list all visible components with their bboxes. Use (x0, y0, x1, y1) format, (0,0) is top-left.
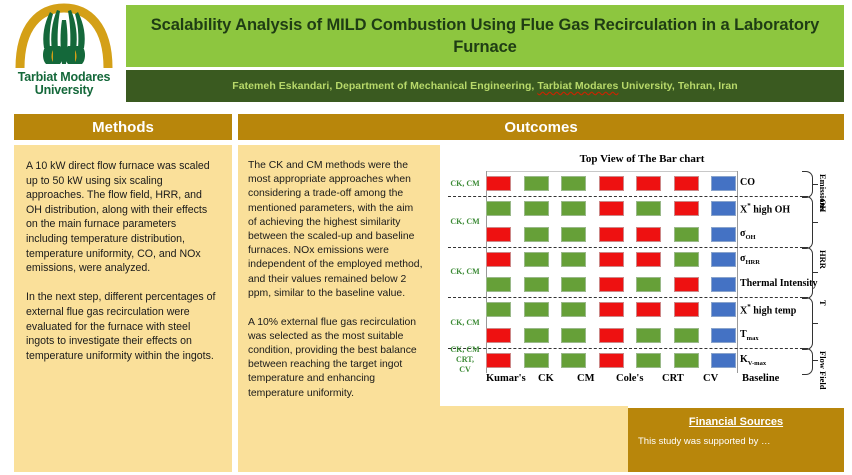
chart-row-label: σHRR (740, 253, 760, 266)
chart-group-label: T (818, 300, 828, 345)
chart-group-separator (448, 348, 808, 349)
chart-plot-area: COX* high OHσOHσHRRThermal IntensityX* h… (440, 145, 844, 406)
chart-group-brace (802, 247, 813, 300)
chart-row (486, 171, 736, 196)
chart-group-brace (802, 171, 813, 198)
financial-sources-title: Financial Sources (638, 416, 834, 428)
chart-group-label: HRR (818, 250, 828, 295)
methods-body: A 10 kW direct flow furnace was scaled u… (26, 159, 220, 363)
chart-left-group-tag: CK, CM (444, 179, 486, 189)
poster-header: Tarbiat Modares University Scalability A… (0, 0, 852, 110)
chart-row (486, 348, 736, 373)
financial-sources-box: Financial Sources This study was support… (628, 408, 844, 472)
chart-cell-blue (711, 302, 736, 317)
chart-cell-red (599, 353, 624, 368)
chart-cell-green (674, 227, 699, 242)
chart-x-label: CV (703, 373, 718, 384)
chart-row (486, 222, 736, 247)
university-logo: Tarbiat Modares University (8, 2, 120, 108)
chart-cell-green (561, 201, 586, 216)
chart-cell-red (636, 176, 661, 191)
financial-sources-body: This study was supported by … (638, 436, 834, 447)
chart-cell-red (599, 227, 624, 242)
chart-cell-green (561, 277, 586, 292)
outcomes-section-header: Outcomes (238, 114, 844, 140)
chart-cell-green (561, 176, 586, 191)
poster-authors: Fatemeh Eskandari, Department of Mechani… (232, 80, 738, 92)
authors-prefix: Fatemeh Eskandari, Department of Mechani… (232, 80, 537, 92)
chart-x-label: Cole's (616, 373, 643, 384)
chart-left-group-tag: CK, CM (444, 217, 486, 227)
chart-x-label: CK (538, 373, 554, 384)
chart-cell-green (636, 353, 661, 368)
chart-group-brace (802, 196, 813, 249)
chart-cell-green (524, 302, 549, 317)
chart-x-label: Kumar's (486, 373, 526, 384)
chart-cell-green (524, 176, 549, 191)
chart-left-group-tag: CK, CM (444, 318, 486, 328)
outcomes-paragraph-1: The CK and CM methods were the most appr… (248, 159, 424, 301)
chart-cell-red (599, 277, 624, 292)
chart-cell-blue (711, 201, 736, 216)
chart-cell-green (524, 227, 549, 242)
chart-cell-blue (711, 252, 736, 267)
poster-title-bar: Scalability Analysis of MILD Combustion … (126, 5, 844, 67)
chart-cell-red (636, 252, 661, 267)
chart-cell-red (486, 227, 511, 242)
chart-row-label: Tmax (740, 329, 759, 342)
chart-cell-green (674, 252, 699, 267)
university-logo-mark (12, 2, 116, 70)
chart-cell-green (561, 252, 586, 267)
chart-cell-blue (711, 176, 736, 191)
chart-cell-green (561, 328, 586, 343)
chart-cell-red (486, 328, 511, 343)
chart-group-separator (448, 196, 808, 197)
methods-section-header: Methods (14, 114, 232, 140)
chart-row (486, 196, 736, 221)
chart-cell-green (561, 227, 586, 242)
chart-row-label: X* high OH (740, 202, 790, 215)
methods-paragraph-2: In the next step, different percentages … (26, 290, 220, 363)
chart-cell-blue (711, 328, 736, 343)
chart-cell-green (486, 302, 511, 317)
chart-cell-green (636, 277, 661, 292)
methods-header-label: Methods (92, 119, 154, 136)
chart-cell-green (486, 201, 511, 216)
chart-row (486, 297, 736, 322)
authors-affiliation-misspelled: Tarbiat Modares (537, 80, 618, 92)
outcomes-header-label: Outcomes (504, 119, 577, 136)
chart-row-label: X* high temp (740, 303, 796, 316)
chart-cell-green (486, 277, 511, 292)
chart-cell-red (674, 176, 699, 191)
chart-group-label: OH (818, 199, 828, 244)
logo-line-1: Tarbiat Modares (18, 70, 111, 84)
chart-cell-red (599, 201, 624, 216)
authors-suffix: University, Tehran, Iran (618, 80, 737, 92)
chart-row (486, 247, 736, 272)
chart-group-separator (448, 247, 808, 248)
chart-cell-red (486, 176, 511, 191)
methods-paragraph-1: A 10 kW direct flow furnace was scaled u… (26, 159, 220, 276)
chart-cell-green (636, 201, 661, 216)
chart-row-label: σOH (740, 228, 756, 241)
chart-x-label: CRT (662, 373, 684, 384)
chart-cell-green (636, 328, 661, 343)
chart-row-label: KV-max (740, 354, 766, 367)
chart-cell-red (599, 328, 624, 343)
chart-cell-red (599, 302, 624, 317)
poster-author-bar: Fatemeh Eskandari, Department of Mechani… (126, 70, 844, 102)
chart-cell-green (524, 277, 549, 292)
poster-title: Scalability Analysis of MILD Combustion … (150, 14, 820, 58)
results-chart-card: Top View of The Bar chart COX* high OHσO… (440, 145, 844, 406)
chart-cell-red (599, 252, 624, 267)
university-logo-text: Tarbiat Modares University (18, 71, 111, 96)
chart-group-brace (802, 348, 813, 375)
outcomes-panel-footer-area (434, 406, 628, 472)
chart-group-brace (802, 297, 813, 350)
chart-x-label: CM (577, 373, 595, 384)
logo-line-2: University (18, 84, 111, 97)
chart-cell-red (674, 302, 699, 317)
chart-cell-grid (486, 171, 736, 373)
chart-cell-blue (711, 277, 736, 292)
chart-cell-green (561, 353, 586, 368)
chart-cell-red (636, 302, 661, 317)
outcomes-paragraph-2: A 10% external flue gas recirculation wa… (248, 316, 424, 401)
chart-cell-green (674, 353, 699, 368)
chart-cell-green (524, 353, 549, 368)
chart-group-label: Flow Field (818, 351, 828, 370)
chart-cell-blue (711, 227, 736, 242)
chart-cell-green (561, 302, 586, 317)
chart-cell-green (524, 328, 549, 343)
chart-left-group-tag: CK, CM (444, 267, 486, 277)
chart-cell-red (486, 252, 511, 267)
chart-cell-green (524, 201, 549, 216)
chart-cell-green (524, 252, 549, 267)
chart-cell-red (674, 201, 699, 216)
chart-group-separator (448, 297, 808, 298)
outcomes-text-panel: The CK and CM methods were the most appr… (238, 145, 434, 472)
chart-row (486, 323, 736, 348)
chart-cell-red (599, 176, 624, 191)
chart-cell-blue (711, 353, 736, 368)
chart-left-group-tag: CK, CMCRT,CV (444, 345, 486, 375)
outcomes-body: The CK and CM methods were the most appr… (248, 159, 424, 401)
chart-group-label: Emissions (818, 174, 828, 193)
chart-row (486, 272, 736, 297)
chart-cell-red (636, 227, 661, 242)
chart-row-label: CO (740, 177, 755, 188)
chart-cell-red (674, 277, 699, 292)
chart-cell-green (674, 328, 699, 343)
chart-x-label: Baseline (742, 373, 779, 384)
chart-cell-red (486, 353, 511, 368)
chart-right-axis-rule (737, 171, 738, 373)
methods-panel: A 10 kW direct flow furnace was scaled u… (14, 145, 232, 472)
